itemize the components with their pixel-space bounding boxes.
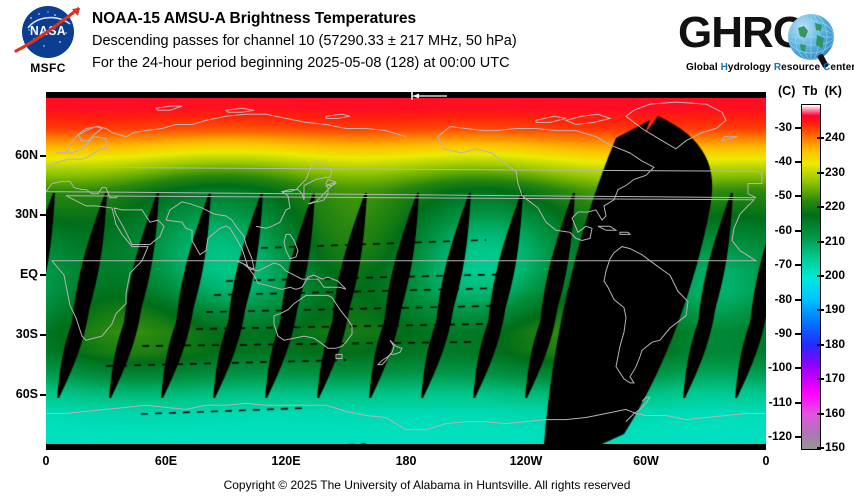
coastline-path xyxy=(52,196,756,341)
colorbar-kelvin-label-200: 200 xyxy=(825,268,845,282)
page-header: NASA MSFC NOAA-15 AMSU-A Brightness Temp… xyxy=(0,0,854,88)
colorbar-kelvin-label-180: 180 xyxy=(825,337,845,351)
chart-period: For the 24-hour period beginning 2025-05… xyxy=(92,52,517,74)
colorbar-celsius-label-m60: -60 xyxy=(760,223,792,237)
coastline-path xyxy=(438,127,654,241)
colorbar-kelvin-label-220: 220 xyxy=(825,199,845,213)
colorbar-kelvin-tick xyxy=(817,378,824,380)
coastline-path xyxy=(626,102,726,149)
colorbar-kelvin-tick xyxy=(817,206,824,208)
colorbar-celsius-label-m90: -90 xyxy=(760,326,792,340)
title-block: NOAA-15 AMSU-A Brightness Temperatures D… xyxy=(92,8,517,74)
colorbar-kelvin-label-190: 190 xyxy=(825,302,845,316)
nasa-swoosh-icon xyxy=(12,7,84,55)
coastline-path xyxy=(284,234,298,258)
colorbar-kelvin-label-210: 210 xyxy=(825,234,845,248)
colorbar xyxy=(801,104,821,450)
colorbar-kelvin-tick xyxy=(817,275,824,277)
coastline-path xyxy=(336,354,342,358)
colorbar-kelvin-label-240: 240 xyxy=(825,130,845,144)
colorbar-header: (C) Tb (K) xyxy=(778,84,842,98)
coastline-path xyxy=(406,409,766,429)
coastline-path xyxy=(114,208,164,245)
colorbar-kelvin-label-160: 160 xyxy=(825,406,845,420)
coastline-overlay xyxy=(46,98,766,444)
colorbar-kelvin-tick xyxy=(817,309,824,311)
coastline-path xyxy=(536,116,566,122)
coastline-path xyxy=(604,247,688,383)
colorbar-kelvin-tick xyxy=(817,447,824,449)
colorbar-kelvin-tick xyxy=(817,172,824,174)
ytick-label-EQ: EQ xyxy=(0,267,38,281)
globe-icon xyxy=(788,14,834,60)
coastline-path xyxy=(326,114,350,118)
orbit-start-marker-icon xyxy=(409,92,449,100)
coastline-path xyxy=(308,181,336,203)
ytick-mark-30N xyxy=(40,214,46,216)
colorbar-celsius-tick xyxy=(795,436,802,438)
coastline-path xyxy=(236,261,346,290)
xtick-label-120E: 120E xyxy=(266,454,306,468)
colorbar-celsius-tick xyxy=(795,161,802,163)
nasa-center-label: MSFC xyxy=(8,61,88,75)
globe-graticule-icon xyxy=(788,14,834,60)
ytick-label-30S: 30S xyxy=(0,327,38,341)
colorbar-kelvin-label-230: 230 xyxy=(825,165,845,179)
ytick-label-60N: 60N xyxy=(0,148,38,162)
copyright-notice: Copyright © 2025 The University of Alaba… xyxy=(0,478,854,492)
ytick-label-30N: 30N xyxy=(0,207,38,221)
colorbar-kelvin-tick xyxy=(817,413,824,415)
nasa-logo: NASA MSFC xyxy=(8,4,86,82)
coastline-path xyxy=(626,397,650,421)
colorbar-kelvin-unit: (K) xyxy=(825,84,842,98)
colorbar-kelvin-label-150: 150 xyxy=(825,440,845,454)
xtick-label-120W: 120W xyxy=(506,454,546,468)
colorbar-celsius-tick xyxy=(795,402,802,404)
coastline-path xyxy=(722,137,738,141)
colorbar-kelvin-tick xyxy=(817,344,824,346)
coastline-path xyxy=(226,108,254,112)
colorbar-celsius-label-m100: -100 xyxy=(760,360,792,374)
colorbar-kelvin-tick xyxy=(817,241,824,243)
colorbar-celsius-tick xyxy=(795,127,802,129)
coastline-path xyxy=(46,403,406,430)
colorbar-celsius-tick xyxy=(795,264,802,266)
colorbar-celsius-tick xyxy=(795,299,802,301)
colorbar-celsius-label-m110: -110 xyxy=(760,395,792,409)
colorbar-celsius-label-m80: -80 xyxy=(760,292,792,306)
ytick-label-60S: 60S xyxy=(0,387,38,401)
xtick-label-360: 0 xyxy=(746,454,786,468)
colorbar-gradient xyxy=(802,105,820,449)
map-bottom-border xyxy=(46,444,766,450)
ghrc-tagline: Global Hydrology Resource Center xyxy=(686,62,854,73)
page-title: NOAA-15 AMSU-A Brightness Temperatures xyxy=(92,8,517,30)
tagline-esource: esource xyxy=(781,62,823,73)
ytick-mark-EQ xyxy=(40,274,46,276)
coastline-path xyxy=(620,232,630,234)
colorbar-celsius-tick xyxy=(795,333,802,335)
map-plot-frame xyxy=(46,92,766,450)
ghrc-logo: GHRC Global Hydrology Resource Center xyxy=(678,6,848,80)
colorbar-kelvin-tick xyxy=(817,137,824,139)
coastline-path xyxy=(166,202,254,269)
coastline-path xyxy=(378,340,402,364)
ytick-mark-60S xyxy=(40,394,46,396)
colorbar-celsius-tick xyxy=(795,195,802,197)
coastline-path xyxy=(46,181,756,197)
coastline-path xyxy=(598,226,616,230)
colorbar-variable: Tb xyxy=(802,84,817,98)
xtick-label-180: 180 xyxy=(386,454,426,468)
colorbar-celsius-label-m30: -30 xyxy=(760,120,792,134)
coastline-path xyxy=(56,127,102,154)
xtick-label-0E: 0 xyxy=(26,454,66,468)
colorbar-celsius-tick xyxy=(795,230,802,232)
coastline-path xyxy=(48,114,762,193)
xtick-label-60W: 60W xyxy=(626,454,666,468)
colorbar-celsius-label-m50: -50 xyxy=(760,188,792,202)
ytick-mark-60N xyxy=(40,155,46,157)
colorbar-celsius-label-m40: -40 xyxy=(760,154,792,168)
colorbar-celsius-label-m70: -70 xyxy=(760,257,792,271)
map-canvas[interactable] xyxy=(46,98,766,444)
coastline-path xyxy=(256,161,332,228)
tagline-h: H xyxy=(721,62,728,73)
xtick-label-60E: 60E xyxy=(146,454,186,468)
colorbar-celsius-tick xyxy=(795,367,802,369)
ghrc-wordmark: GHRC xyxy=(678,8,804,58)
tagline-enter: enter xyxy=(830,62,854,73)
coastline-path xyxy=(566,114,610,124)
colorbar-kelvin-label-170: 170 xyxy=(825,371,845,385)
tagline-ydrology: ydrology xyxy=(728,62,774,73)
colorbar-celsius-label-m120: -120 xyxy=(760,429,792,443)
coastline-path xyxy=(326,179,336,185)
chart-subtitle: Descending passes for channel 10 (57290.… xyxy=(92,30,517,52)
tagline-global: Global xyxy=(686,62,721,73)
coastline-path xyxy=(274,295,352,348)
ytick-mark-30S xyxy=(40,334,46,336)
colorbar-celsius-unit: (C) xyxy=(778,84,795,98)
coastline-path xyxy=(156,106,182,110)
